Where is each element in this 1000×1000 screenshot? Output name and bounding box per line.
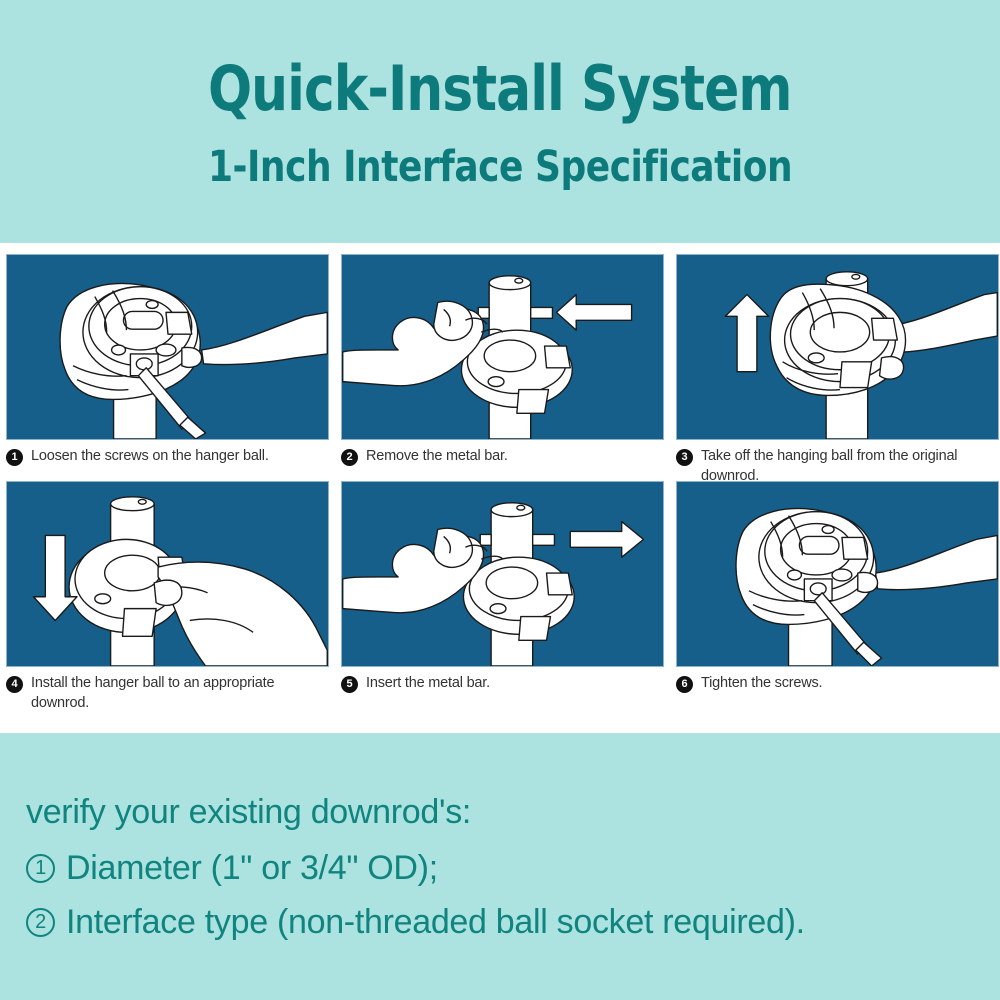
step-1-text: Loosen the screws on the hanger ball. <box>31 447 269 467</box>
step-6: 6 Tighten the screws. <box>676 481 999 694</box>
step-2-illustration <box>341 254 664 440</box>
step-6-badge: 6 <box>676 676 693 693</box>
step-1-badge: 1 <box>6 449 23 466</box>
footer-note: verify your existing downrod's: 1 Diamet… <box>0 733 1000 1000</box>
step-4: 4 Install the hanger ball to an appropri… <box>6 481 329 713</box>
page-title: Quick-Install System <box>208 58 792 120</box>
instruction-sheet: Quick-Install System 1-Inch Interface Sp… <box>0 0 1000 1000</box>
step-6-illustration <box>676 481 999 667</box>
steps-row-1: 1 Loosen the screws on the hanger ball. <box>0 254 1000 487</box>
step-2: 2 Remove the metal bar. <box>341 254 664 467</box>
step-6-text: Tighten the screws. <box>701 674 822 694</box>
footer-item-1: 1 Diameter (1" or 3/4" OD); <box>26 851 1000 885</box>
step-3-badge: 3 <box>676 449 693 466</box>
step-5-illustration <box>341 481 664 667</box>
step-5-text: Insert the metal bar. <box>366 674 490 694</box>
footer-marker-2: 2 <box>26 908 55 937</box>
step-1-illustration <box>6 254 329 440</box>
step-2-caption: 2 Remove the metal bar. <box>341 447 664 467</box>
steps-grid: 1 Loosen the screws on the hanger ball. <box>0 243 1000 733</box>
step-6-caption: 6 Tighten the screws. <box>676 674 999 694</box>
step-5-badge: 5 <box>341 676 358 693</box>
page-subtitle: 1-Inch Interface Specification <box>208 146 792 189</box>
step-4-text: Install the hanger ball to an appropriat… <box>31 674 329 713</box>
footer-item-1-text: Diameter (1" or 3/4" OD); <box>66 851 438 885</box>
footer-lead: verify your existing downrod's: <box>26 795 1000 829</box>
step-2-badge: 2 <box>341 449 358 466</box>
step-5: 5 Insert the metal bar. <box>341 481 664 694</box>
step-5-caption: 5 Insert the metal bar. <box>341 674 664 694</box>
step-4-illustration <box>6 481 329 667</box>
step-3: 3 Take off the hanging ball from the ori… <box>676 254 999 486</box>
footer-item-2: 2 Interface type (non-threaded ball sock… <box>26 905 1000 939</box>
step-4-badge: 4 <box>6 676 23 693</box>
step-3-illustration <box>676 254 999 440</box>
step-1: 1 Loosen the screws on the hanger ball. <box>6 254 329 467</box>
header-banner: Quick-Install System 1-Inch Interface Sp… <box>0 0 1000 243</box>
footer-item-2-text: Interface type (non-threaded ball socket… <box>66 905 805 939</box>
steps-row-2: 4 Install the hanger ball to an appropri… <box>0 481 1000 714</box>
step-2-text: Remove the metal bar. <box>366 447 508 467</box>
step-1-caption: 1 Loosen the screws on the hanger ball. <box>6 447 329 467</box>
step-4-caption: 4 Install the hanger ball to an appropri… <box>6 674 329 713</box>
footer-marker-1: 1 <box>26 854 55 883</box>
